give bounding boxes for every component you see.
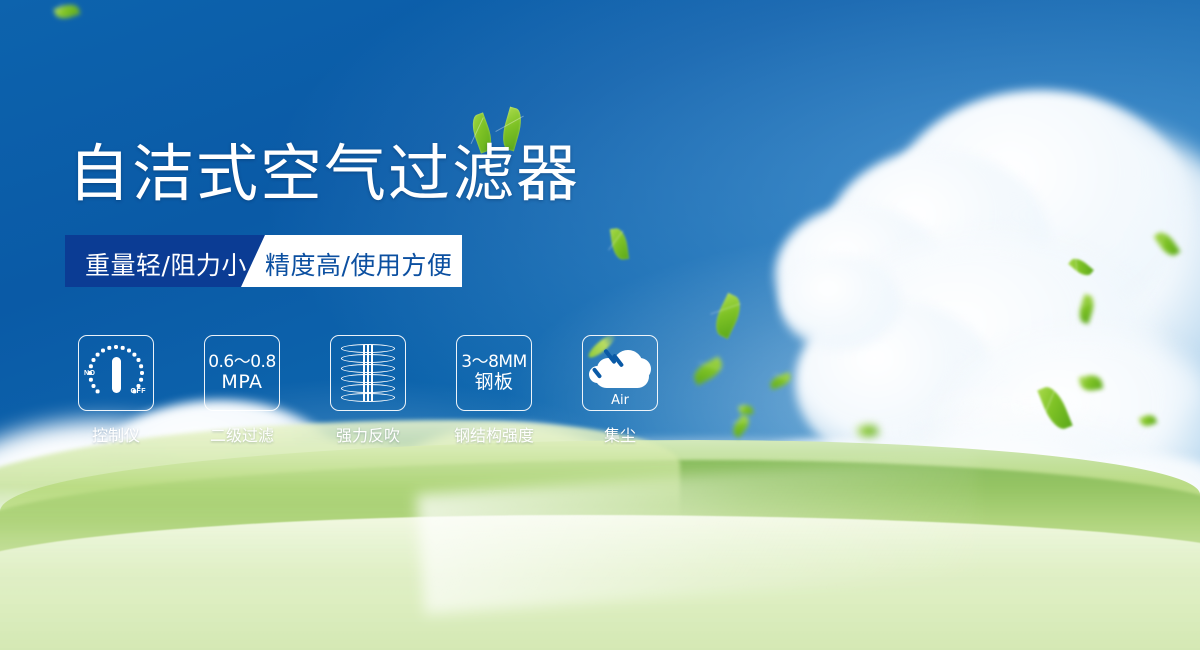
dial-gauge-icon: NO OFF <box>84 342 148 404</box>
feature-icon-box: 3～8MM 钢板 <box>456 335 532 411</box>
feature-item-steel-structure[interactable]: 3～8MM 钢板 钢结构强度 <box>456 335 532 446</box>
subtitle-right-text: 精度高/使用方便 <box>265 246 452 282</box>
steel-material-text: 钢板 <box>461 372 526 393</box>
feature-icon-box: NO OFF <box>78 335 154 411</box>
page-title: 自洁式空气过滤器 <box>68 143 580 205</box>
feature-icon-box <box>330 335 406 411</box>
subtitle-bar: 重量轻/阻力小 精度高/使用方便 <box>65 235 462 287</box>
dial-needle <box>112 357 121 393</box>
steel-plate-icon: 3～8MM 钢板 <box>461 353 526 393</box>
steel-thickness-text: 3～8MM <box>461 353 526 372</box>
cloud-air-label: Air <box>589 393 651 408</box>
banner-content: 自洁式空气过滤器 重量轻/阻力小 精度高/使用方便 <box>0 0 1200 650</box>
feature-item-control-meter[interactable]: NO OFF 控制仪 <box>78 335 154 446</box>
product-banner: 自洁式空气过滤器 重量轻/阻力小 精度高/使用方便 <box>0 0 1200 650</box>
feature-icon-box: Air <box>582 335 658 411</box>
dial-label-no: NO <box>84 370 96 377</box>
feature-item-strong-backflush[interactable]: 强力反吹 <box>330 335 406 446</box>
pressure-range-text: 0.6～0.8 <box>208 353 276 372</box>
feature-label: 控制仪 <box>92 422 140 446</box>
feature-label: 集尘 <box>604 422 636 446</box>
feature-label: 强力反吹 <box>336 422 400 446</box>
cloud-air-icon: Air <box>589 346 651 400</box>
feature-icon-box: 0.6～0.8 MPA <box>204 335 280 411</box>
feature-item-secondary-filtration[interactable]: 0.6～0.8 MPA 二级过滤 <box>204 335 280 446</box>
feature-label: 二级过滤 <box>210 422 274 446</box>
feature-label: 钢结构强度 <box>454 422 534 446</box>
dial-label-off: OFF <box>131 388 147 395</box>
pressure-value-icon: 0.6～0.8 MPA <box>208 353 276 393</box>
pressure-unit-text: MPA <box>208 372 276 393</box>
coil-spiral-icon <box>341 343 395 403</box>
feature-list: NO OFF 控制仪 0.6～0.8 MPA 二级过滤 <box>78 335 658 446</box>
subtitle-left-text: 重量轻/阻力小 <box>85 246 247 282</box>
feature-item-dust-collection[interactable]: Air 集尘 <box>582 335 658 446</box>
